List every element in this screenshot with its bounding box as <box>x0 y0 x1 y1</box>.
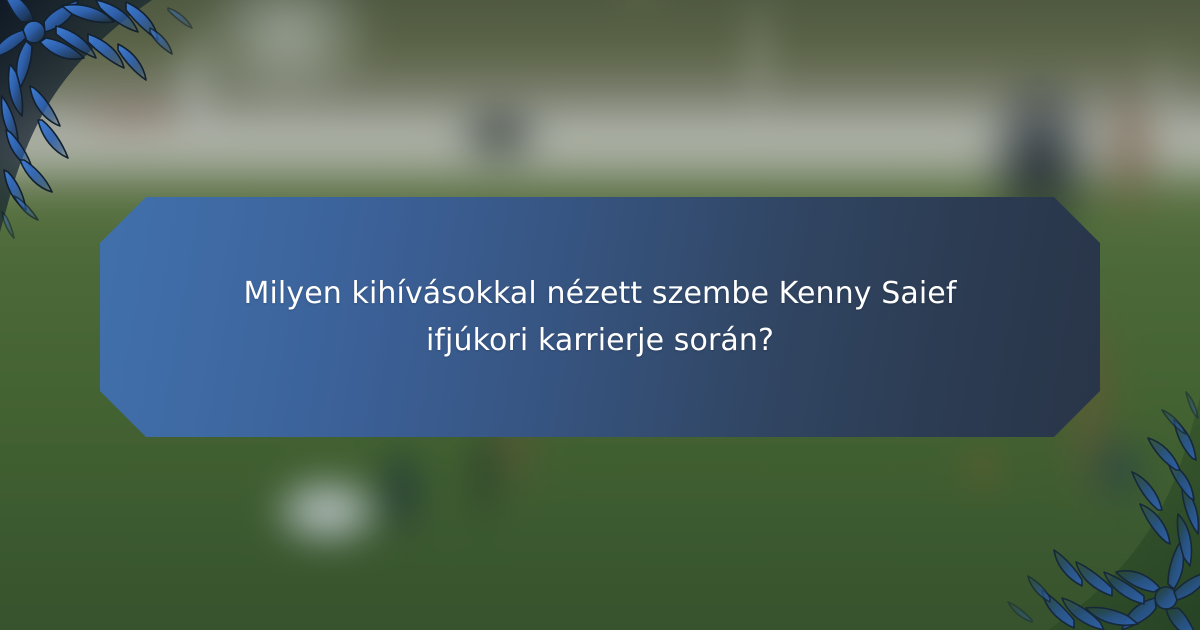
question-title: Milyen kihívásokkal nézett szembe Kenny … <box>230 270 970 365</box>
question-banner: Milyen kihívásokkal nézett szembe Kenny … <box>100 197 1100 437</box>
share-card: Milyen kihívásokkal nézett szembe Kenny … <box>0 0 1200 630</box>
